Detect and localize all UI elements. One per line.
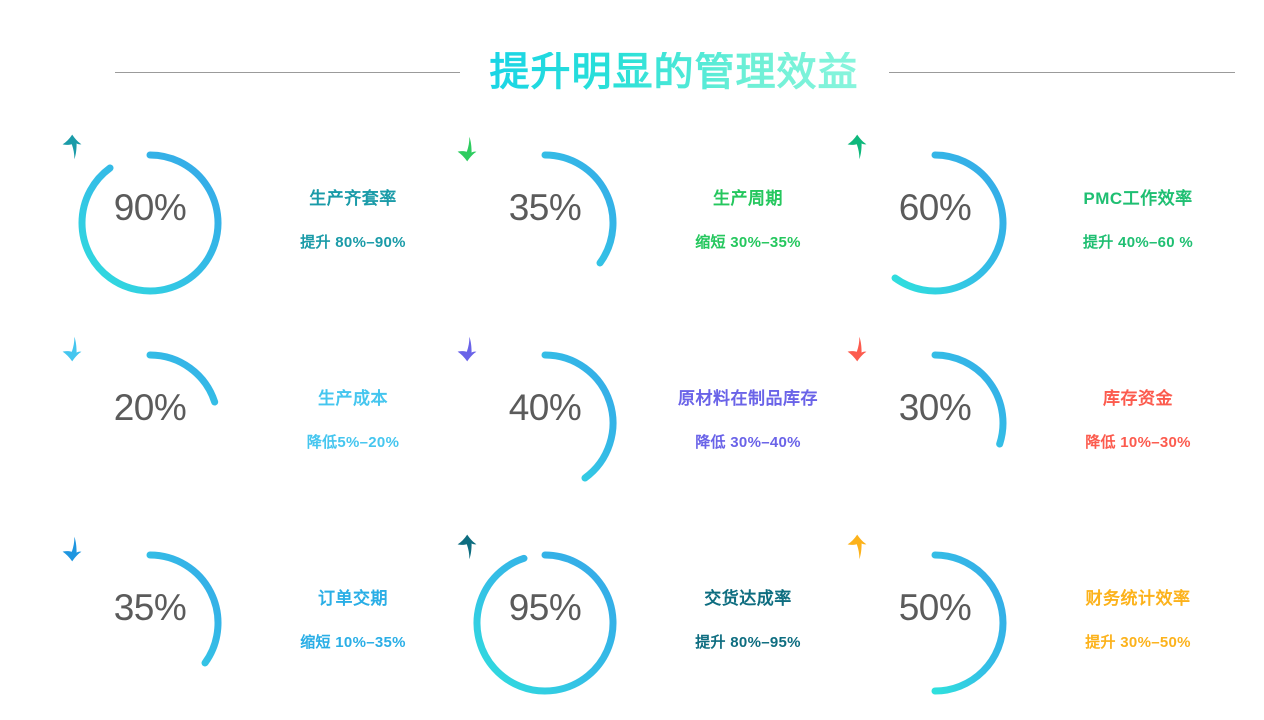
metric-texts: 生产成本 降低5%–20%: [248, 390, 458, 455]
progress-ring-gauge: 90%: [60, 133, 240, 313]
metrics-grid: 90% 生产齐套率 提升 80%–90%: [0, 125, 1264, 710]
percent-value: 50%: [899, 589, 972, 626]
metric-label: 财务统计效率: [1086, 590, 1191, 609]
percent-value: 20%: [114, 389, 187, 426]
metric-card[interactable]: 90% 生产齐套率 提升 80%–90%: [60, 125, 460, 320]
metric-sublabel: 降低 10%–30%: [1085, 435, 1191, 452]
metric-label: 原材料在制品库存: [678, 390, 818, 409]
arrow-down-icon: [923, 429, 947, 459]
metric-texts: PMC工作效率 提升 40%–60 %: [1033, 190, 1243, 255]
metric-label: 生产成本: [318, 390, 388, 409]
arrow-down-icon: [138, 429, 162, 459]
metric-label: 交货达成率: [704, 590, 792, 609]
progress-ring-gauge: 60%: [845, 133, 1025, 313]
percent-value: 60%: [899, 189, 972, 226]
arrow-up-icon: [923, 629, 947, 659]
gauge-center: 35%: [455, 133, 635, 313]
progress-ring-gauge: 35%: [60, 533, 240, 713]
metric-texts: 财务统计效率 提升 30%–50%: [1033, 590, 1243, 655]
metric-label: 库存资金: [1103, 390, 1173, 409]
metric-sublabel: 缩短 10%–35%: [300, 635, 406, 652]
metric-label: 订单交期: [318, 590, 388, 609]
gauge-center: 95%: [455, 533, 635, 713]
metric-sublabel: 提升 30%–50%: [1085, 635, 1191, 652]
metric-sublabel: 提升 80%–90%: [300, 235, 406, 252]
gauge-center: 20%: [60, 333, 240, 513]
metric-card[interactable]: 35% 生产周期 缩短 30%–35%: [455, 125, 855, 320]
gauge-center: 40%: [455, 333, 635, 513]
progress-ring-gauge: 35%: [455, 133, 635, 313]
percent-value: 40%: [509, 389, 582, 426]
metric-sublabel: 缩短 30%–35%: [695, 235, 801, 252]
metric-sublabel: 降低5%–20%: [307, 435, 399, 452]
metric-sublabel: 降低 30%–40%: [695, 435, 801, 452]
metric-texts: 生产周期 缩短 30%–35%: [643, 190, 853, 255]
metric-texts: 生产齐套率 提升 80%–90%: [248, 190, 458, 255]
arrow-down-icon: [533, 429, 557, 459]
metric-card[interactable]: 40% 原材料在制品库存 降低 30%–40%: [455, 325, 855, 520]
gauge-center: 50%: [845, 533, 1025, 713]
header-rule-left: [115, 72, 460, 73]
arrow-up-icon: [138, 229, 162, 259]
gauge-center: 60%: [845, 133, 1025, 313]
metric-card[interactable]: 30% 库存资金 降低 10%–30%: [845, 325, 1245, 520]
arrow-up-icon: [533, 629, 557, 659]
header-rule-right: [889, 72, 1235, 73]
progress-ring-gauge: 30%: [845, 333, 1025, 513]
metric-label: 生产周期: [713, 190, 783, 209]
arrow-up-icon: [923, 229, 947, 259]
gauge-center: 30%: [845, 333, 1025, 513]
percent-value: 90%: [114, 189, 187, 226]
metric-sublabel: 提升 80%–95%: [695, 635, 801, 652]
arrow-down-icon: [533, 229, 557, 259]
arrow-down-icon: [138, 629, 162, 659]
page-title: 提升明显的管理效益: [486, 52, 863, 92]
progress-ring-gauge: 20%: [60, 333, 240, 513]
metric-card[interactable]: 35% 订单交期 缩短 10%–35%: [60, 525, 460, 720]
progress-ring-gauge: 40%: [455, 333, 635, 513]
progress-ring-gauge: 95%: [455, 533, 635, 713]
metric-label: PMC工作效率: [1083, 190, 1192, 209]
metric-texts: 订单交期 缩短 10%–35%: [248, 590, 458, 655]
metric-card[interactable]: 50% 财务统计效率 提升 30%–50%: [845, 525, 1245, 720]
metric-texts: 原材料在制品库存 降低 30%–40%: [643, 390, 853, 455]
progress-ring-gauge: 50%: [845, 533, 1025, 713]
metric-card[interactable]: 95% 交货达成率 提升 80%–95%: [455, 525, 855, 720]
gauge-center: 35%: [60, 533, 240, 713]
percent-value: 30%: [899, 389, 972, 426]
metric-sublabel: 提升 40%–60 %: [1083, 235, 1193, 252]
metric-card[interactable]: 20% 生产成本 降低5%–20%: [60, 325, 460, 520]
percent-value: 35%: [509, 189, 582, 226]
gauge-center: 90%: [60, 133, 240, 313]
percent-value: 95%: [509, 589, 582, 626]
metric-label: 生产齐套率: [309, 190, 397, 209]
page-header: 提升明显的管理效益: [0, 40, 1264, 104]
percent-value: 35%: [114, 589, 187, 626]
metric-texts: 交货达成率 提升 80%–95%: [643, 590, 853, 655]
metric-card[interactable]: 60% PMC工作效率 提升 40%–60 %: [845, 125, 1245, 320]
metric-texts: 库存资金 降低 10%–30%: [1033, 390, 1243, 455]
